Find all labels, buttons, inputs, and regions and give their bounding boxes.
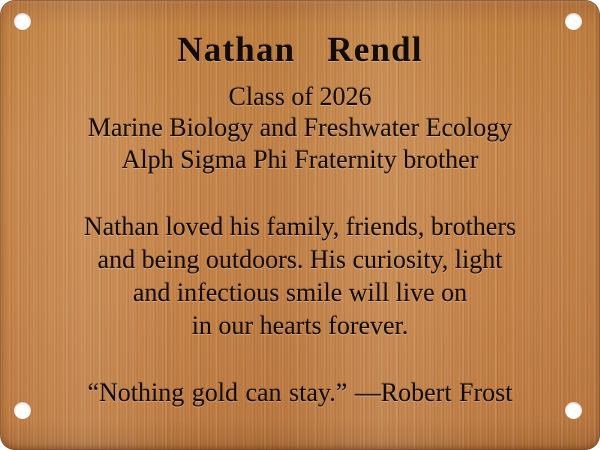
plaque-affiliation-line: Alph Sigma Phi Fraternity brother (0, 145, 600, 176)
memorial-plaque: Nathan Rendl Class of 2026 Marine Biolog… (0, 0, 600, 450)
plaque-inscription: Nathan Rendl Class of 2026 Marine Biolog… (0, 0, 600, 450)
plaque-class-line: Class of 2026 (0, 82, 600, 113)
plaque-tribute-line-1: Nathan loved his family, friends, brothe… (0, 212, 600, 243)
plaque-major-line: Marine Biology and Freshwater Ecology (0, 113, 600, 144)
plaque-tribute-line-4: in our hearts forever. (0, 311, 600, 342)
plaque-tribute-line-3: and infectious smile will live on (0, 278, 600, 309)
plaque-tribute-line-2: and being outdoors. His curiosity, light (0, 245, 600, 276)
plaque-quote-attribution: “Nothing gold can stay.” —Robert Frost (0, 378, 600, 409)
plaque-honoree-name: Nathan Rendl (0, 31, 600, 69)
